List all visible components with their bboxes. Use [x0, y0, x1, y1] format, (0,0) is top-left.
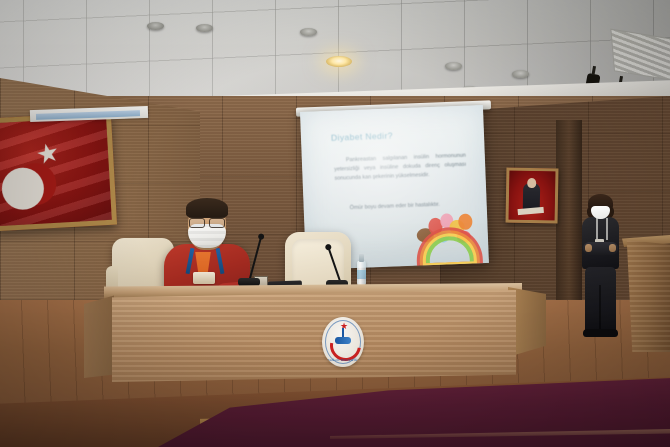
attendee-hand	[585, 244, 592, 252]
framed-portrait-picture	[506, 168, 559, 224]
attendee-hand	[609, 244, 616, 252]
speaker-id-badge	[193, 272, 215, 284]
auditorium-photo: Diyabet Nedir? Pankreastan salgılanan in…	[0, 0, 670, 447]
framed-flag-picture	[0, 112, 117, 232]
microphone-base	[238, 278, 260, 286]
downlight-icon	[147, 22, 164, 30]
presenter-desk	[112, 290, 516, 382]
downlight-icon	[512, 70, 529, 78]
downlight-icon	[196, 24, 213, 32]
lit-downlight-icon	[326, 56, 352, 67]
downlight-icon	[300, 28, 317, 36]
bottle-label	[357, 270, 366, 279]
bottle-cap	[359, 254, 364, 262]
ministry-emblem: ★ SAĞLIK BAKANLIĞI	[322, 317, 364, 367]
portrait-head	[527, 178, 536, 188]
emblem-caption: SAĞLIK BAKANLIĞI	[322, 358, 364, 362]
standing-attendee	[575, 196, 627, 344]
water-bottle	[357, 254, 366, 286]
emblem-serpent	[335, 337, 351, 344]
speaker-hair	[186, 198, 228, 218]
eyeglasses-icon	[189, 217, 225, 226]
attendee-trousers	[585, 267, 616, 331]
desk-left-return	[84, 292, 114, 378]
slide-paragraph-1: Pankreastan salgılanan insülin hormonunu…	[334, 152, 467, 185]
slide-artwork	[416, 210, 476, 260]
desk-wood-grain	[112, 290, 516, 382]
attendee-shoes	[583, 329, 618, 337]
attendee-lanyard-strap	[596, 218, 608, 240]
slide-title: Diyabet Nedir?	[331, 130, 393, 142]
downlight-icon	[445, 62, 462, 70]
